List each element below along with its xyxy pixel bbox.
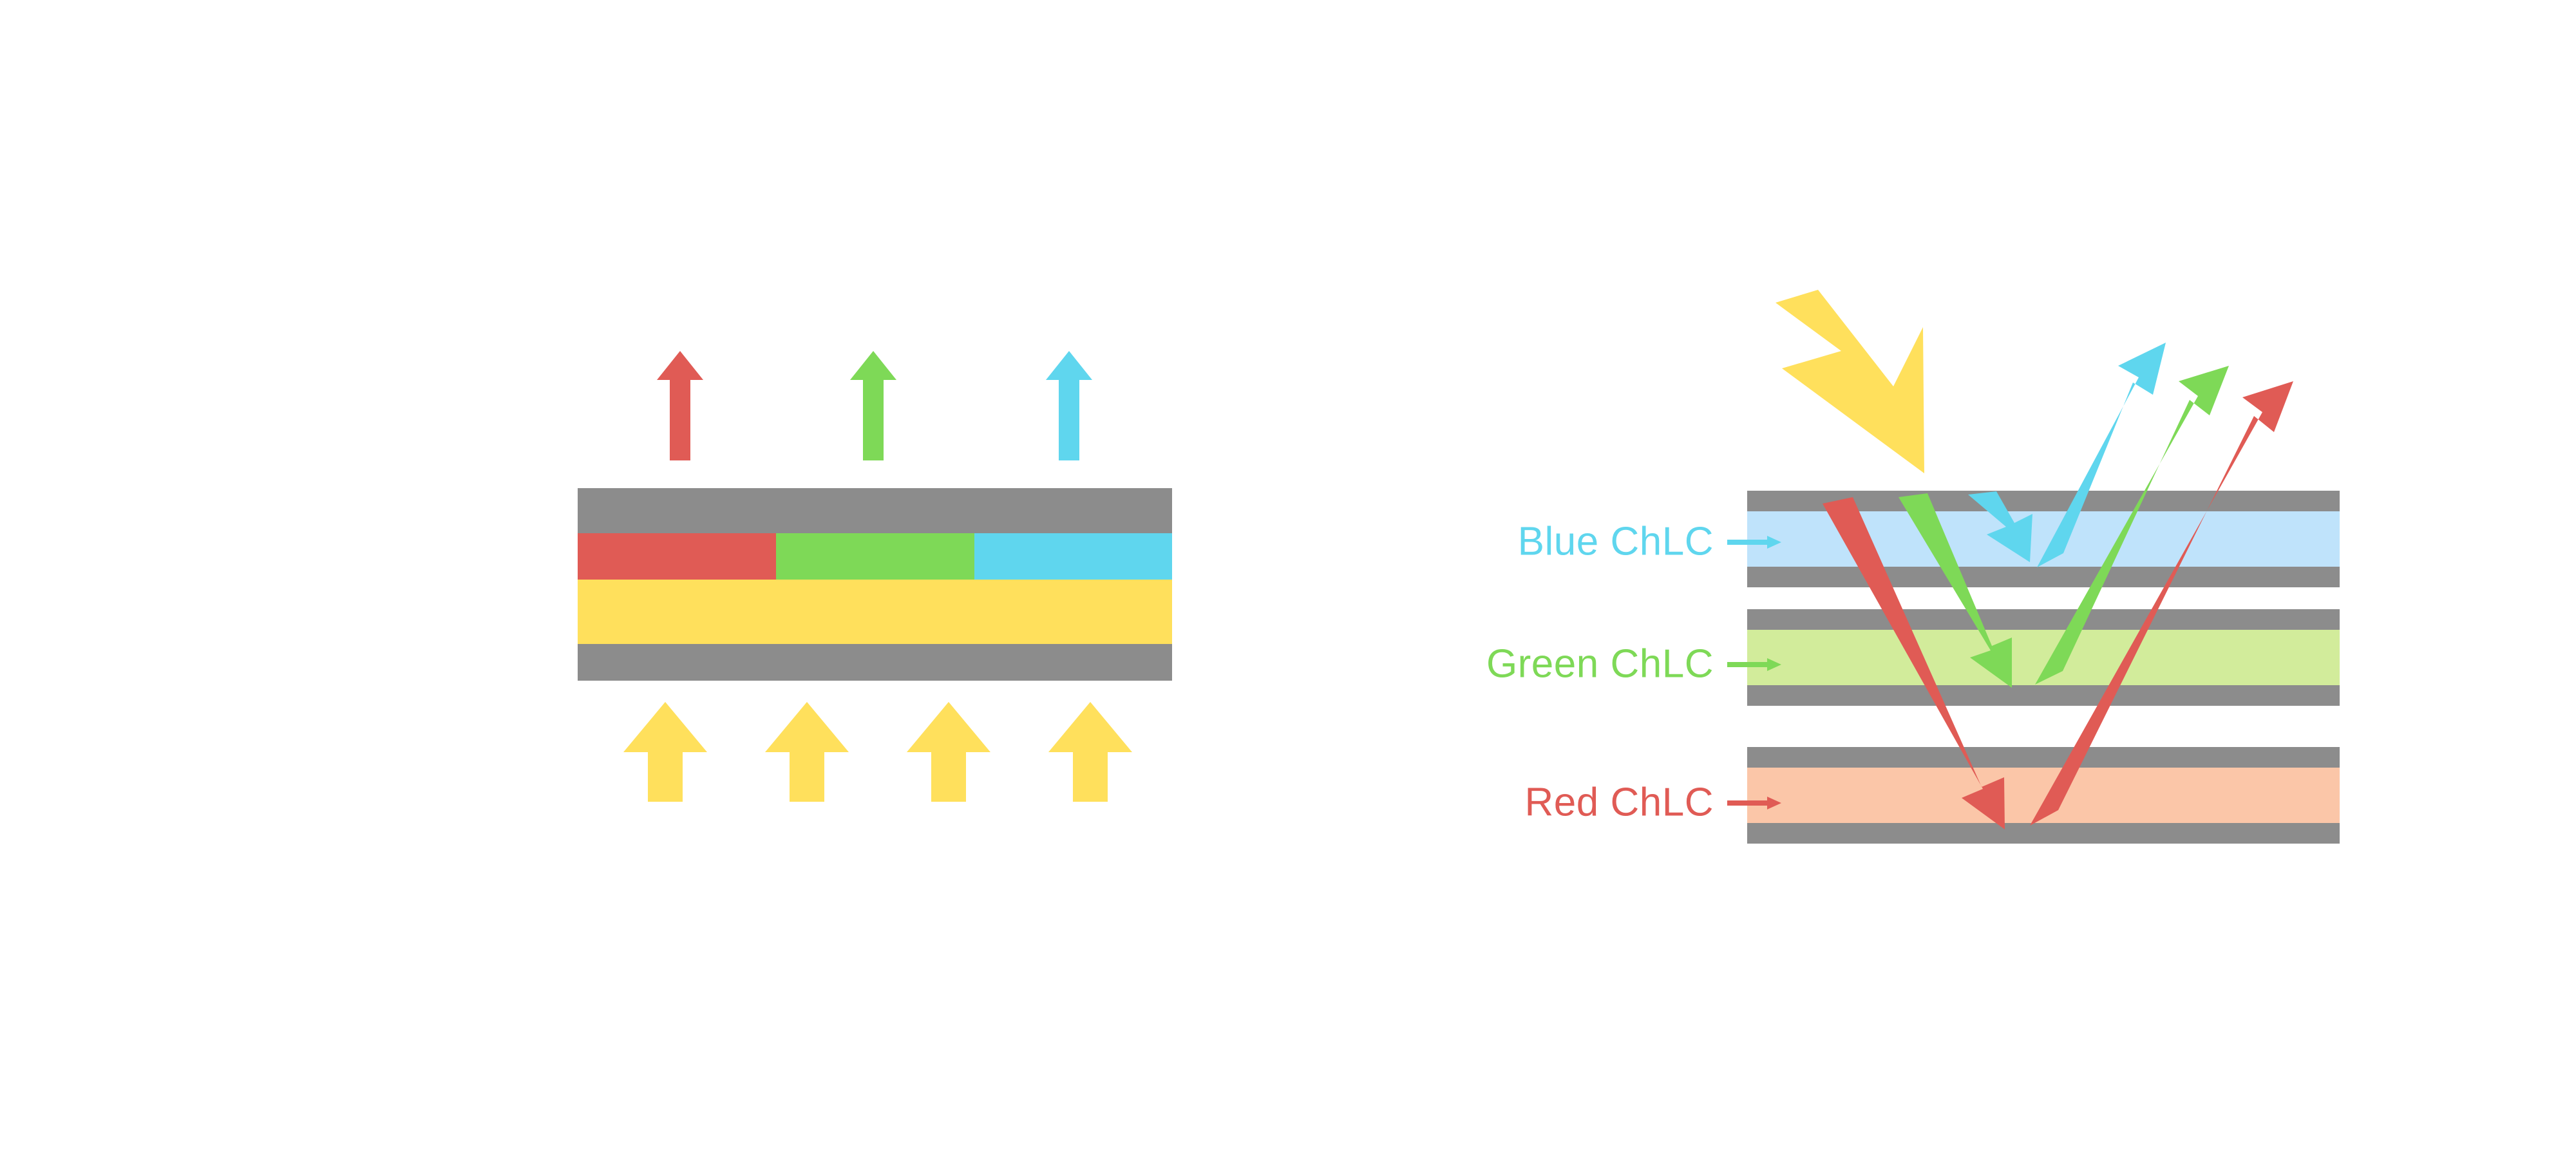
label-green-chlc-text: Green ChLC: [1486, 641, 1714, 686]
green-top-electrode: [1747, 609, 2340, 630]
label-red-chlc-text: Red ChLC: [1525, 780, 1714, 824]
bottom-electrode: [578, 644, 1172, 681]
red-bottom-electrode: [1747, 823, 2340, 844]
blue-bottom-electrode: [1747, 567, 2340, 587]
green-bottom-electrode: [1747, 685, 2340, 706]
diagram-canvas: Blue ChLC Green ChLC Red ChLC: [0, 0, 2576, 1154]
blue-subpixel: [974, 533, 1172, 580]
top-electrode: [578, 488, 1172, 533]
red-subpixel: [578, 533, 776, 580]
red-top-electrode: [1747, 747, 2340, 768]
label-blue-chlc-text: Blue ChLC: [1518, 519, 1714, 563]
green-subpixel: [776, 533, 974, 580]
backlight-layer: [578, 580, 1172, 644]
figure-root: Blue ChLC Green ChLC Red ChLC: [0, 0, 2576, 1154]
